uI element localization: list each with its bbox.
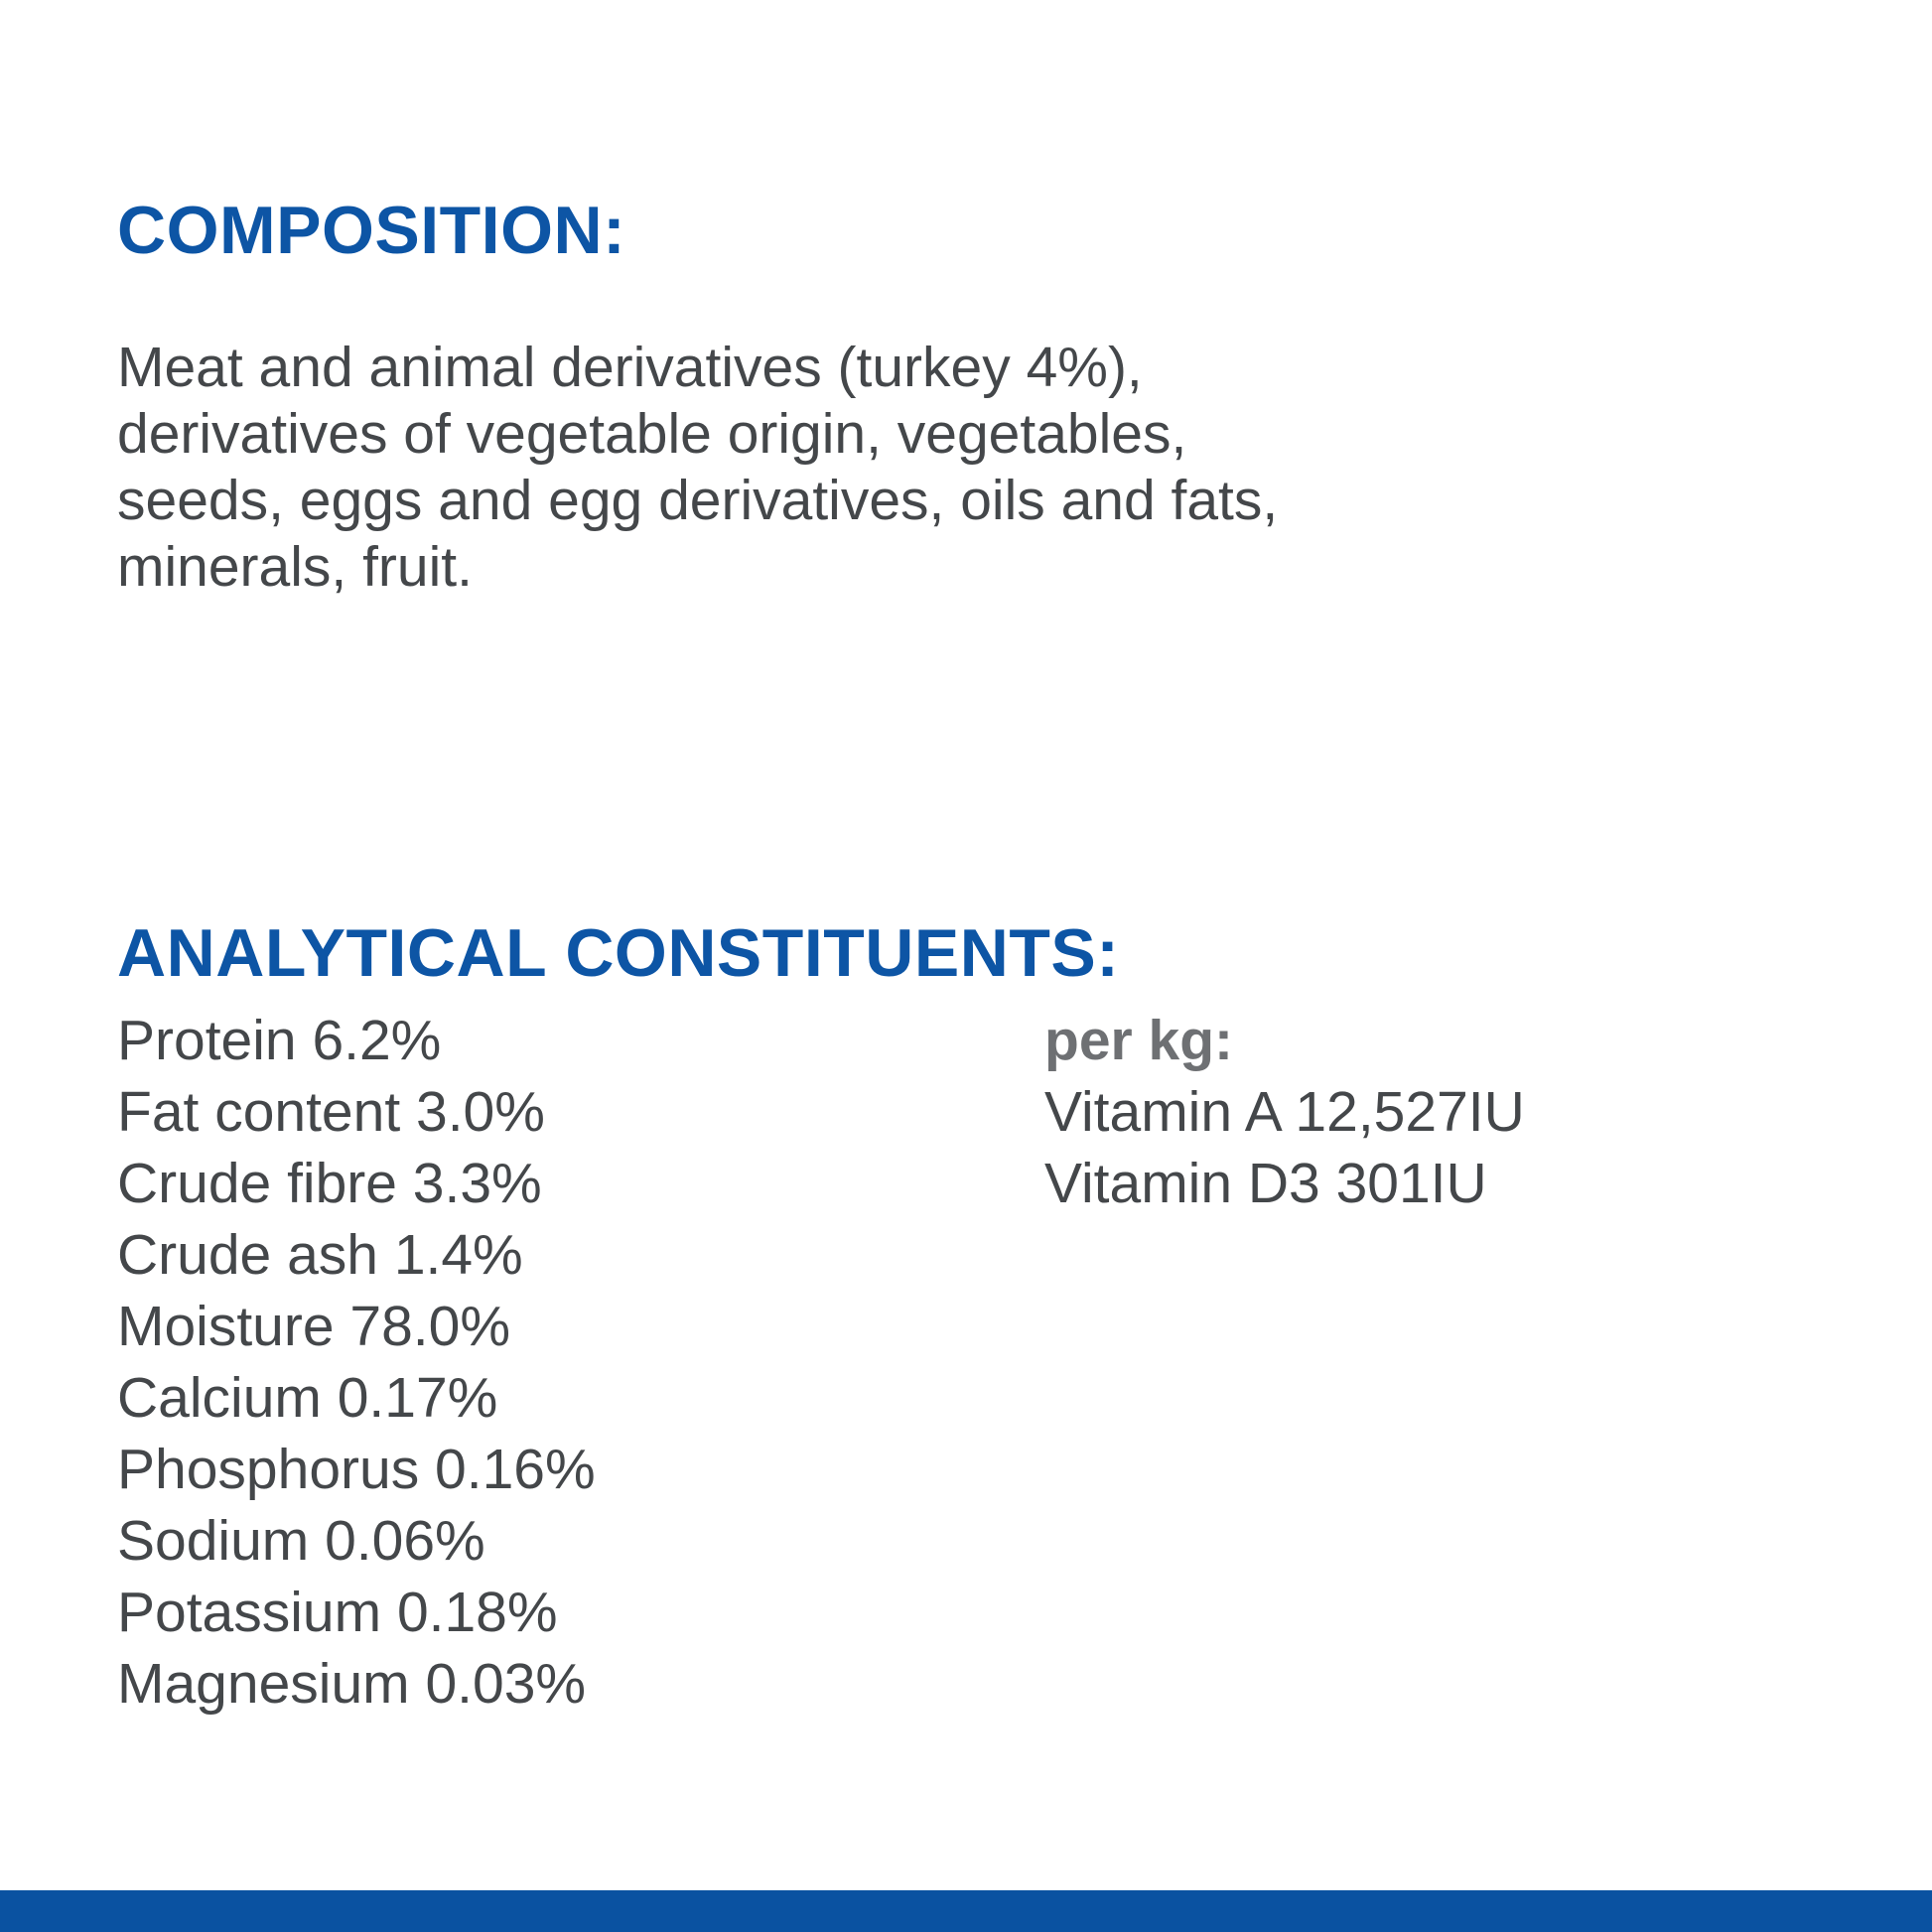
bottom-accent-bar <box>0 1890 1932 1932</box>
analytical-constituents-columns: Protein 6.2% Fat content 3.0% Crude fibr… <box>0 1005 1932 1759</box>
composition-line: derivatives of vegetable origin, vegetab… <box>117 401 1755 468</box>
per-kg-label: per kg: <box>1044 1005 1898 1076</box>
constituent-row: Moisture 78.0% <box>117 1291 991 1362</box>
constituent-row: Potassium 0.18% <box>117 1577 991 1648</box>
composition-line: Meat and animal derivatives (turkey 4%), <box>117 335 1755 401</box>
constituent-row: Crude fibre 3.3% <box>117 1148 991 1219</box>
constituent-row: Phosphorus 0.16% <box>117 1434 991 1505</box>
vitamin-row: Vitamin A 12,527IU <box>1044 1076 1898 1148</box>
constituent-row: Magnesium 0.03% <box>117 1648 991 1720</box>
constituent-row: Calcium 0.17% <box>117 1362 991 1434</box>
product-label-panel: COMPOSITION: Meat and animal derivatives… <box>0 0 1932 1932</box>
composition-line: minerals, fruit. <box>117 534 1755 601</box>
analytical-constituents-heading: ANALYTICAL CONSTITUENTS: <box>117 919 1119 987</box>
constituents-right-column: per kg: Vitamin A 12,527IU Vitamin D3 30… <box>1044 1005 1898 1219</box>
constituent-row: Fat content 3.0% <box>117 1076 991 1148</box>
constituent-row: Protein 6.2% <box>117 1005 991 1076</box>
constituents-left-column: Protein 6.2% Fat content 3.0% Crude fibr… <box>117 1005 991 1720</box>
vitamin-row: Vitamin D3 301IU <box>1044 1148 1898 1219</box>
composition-body-text: Meat and animal derivatives (turkey 4%),… <box>117 335 1755 601</box>
composition-line: seeds, eggs and egg derivatives, oils an… <box>117 468 1755 534</box>
composition-heading: COMPOSITION: <box>117 197 625 264</box>
constituent-row: Sodium 0.06% <box>117 1505 991 1577</box>
constituent-row: Crude ash 1.4% <box>117 1219 991 1291</box>
